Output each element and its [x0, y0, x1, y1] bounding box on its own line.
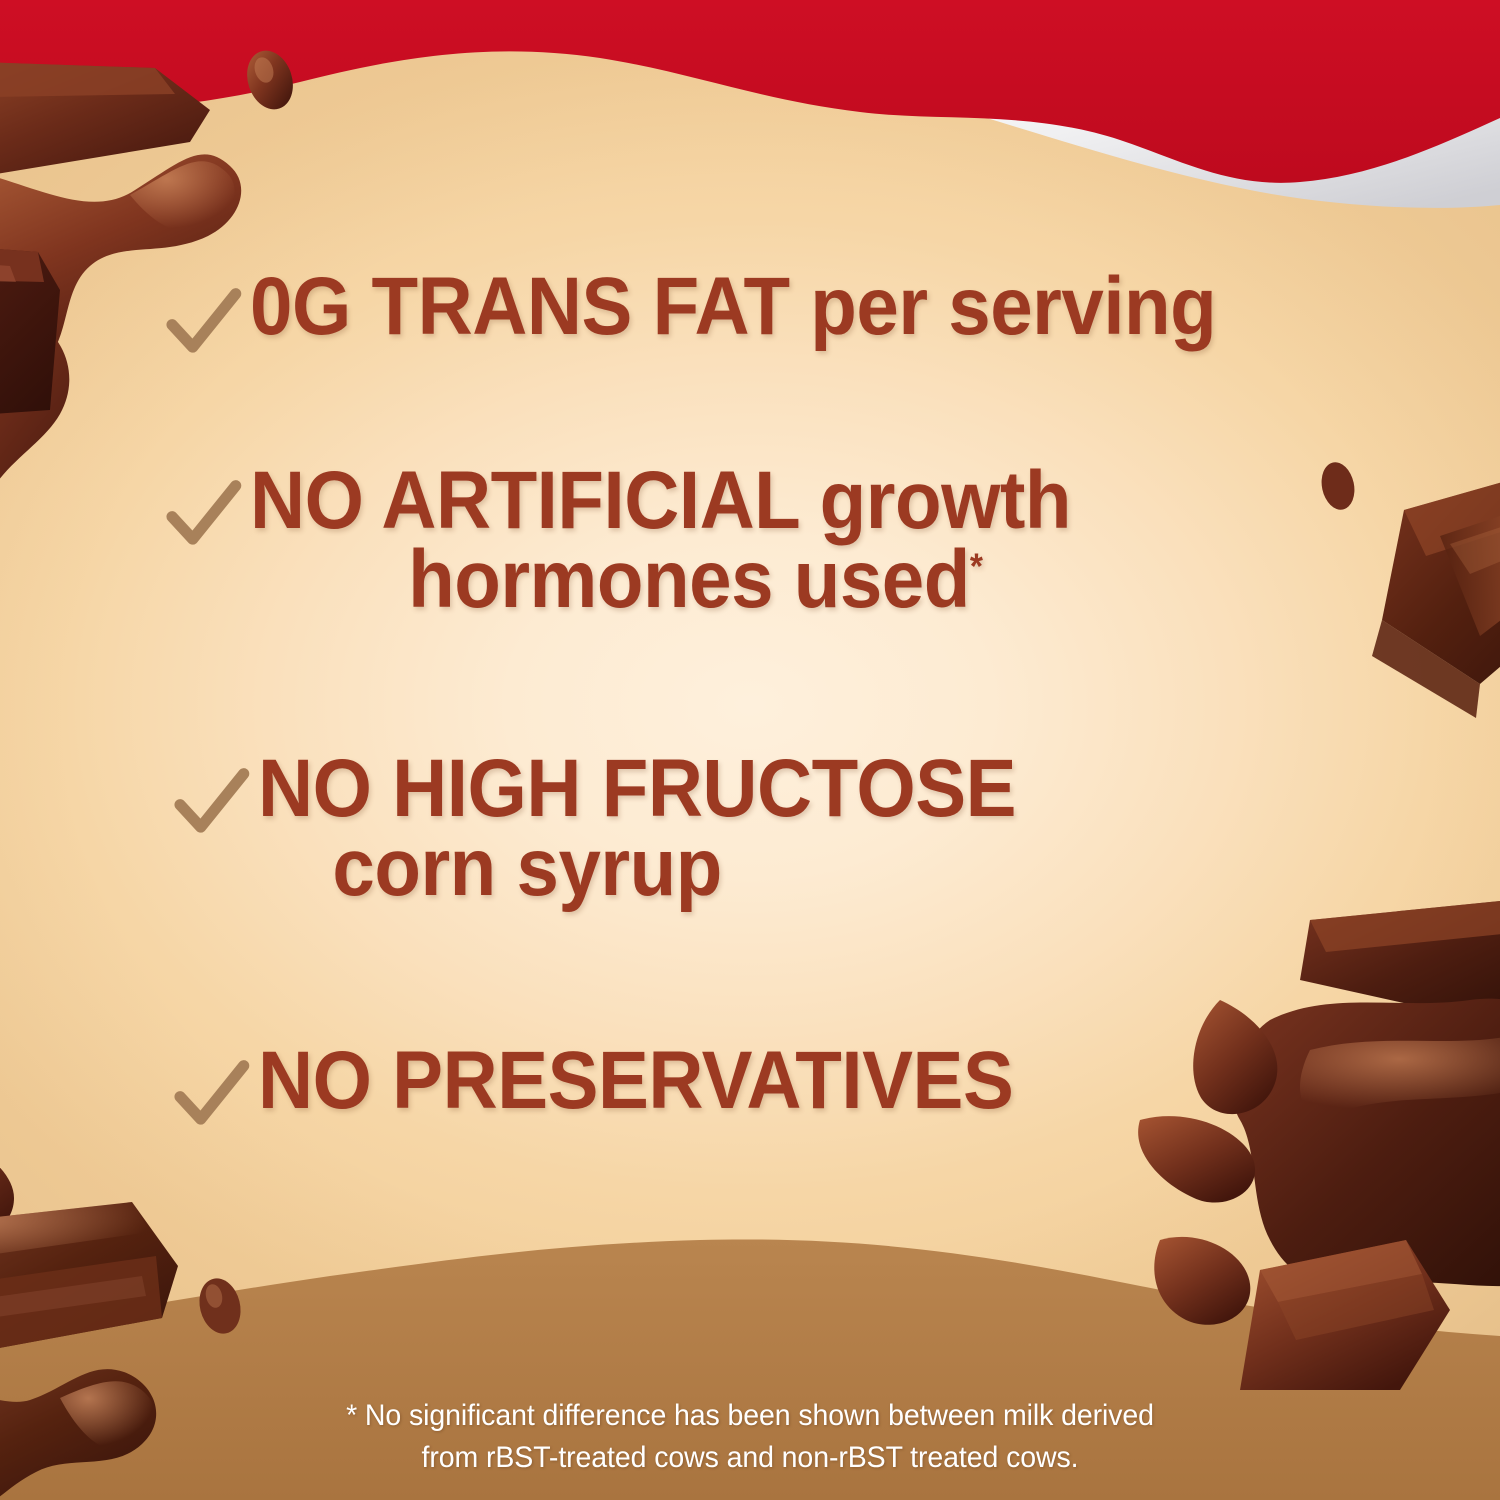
- claim-no-preservatives: NO PRESERVATIVES: [168, 1042, 1070, 1138]
- advertisement-canvas: 0G TRANS FAT per serving NO ARTIFICIAL g…: [0, 0, 1500, 1500]
- claim-text: NO ARTIFICIAL growth hormones used*: [250, 462, 1413, 619]
- claim-caps: NO PRESERVATIVES: [258, 1035, 1013, 1126]
- checkmark-icon: [160, 268, 250, 366]
- claim-growth-hormones: NO ARTIFICIAL growth hormones used*: [160, 462, 1500, 619]
- checkmark-icon: [160, 462, 250, 558]
- claim-text: NO HIGH FRUCTOSE corn syrup: [258, 750, 1413, 907]
- claim-line2: hormones used: [408, 534, 970, 625]
- footnote-line-1: * No significant difference has been sho…: [38, 1395, 1463, 1436]
- claim-rest: per serving: [790, 261, 1217, 352]
- footnote-disclaimer: * No significant difference has been sho…: [0, 1395, 1500, 1478]
- checkmark-icon: [168, 1042, 258, 1138]
- claim-text: 0G TRANS FAT per serving: [250, 268, 1216, 347]
- checkmark-icon: [168, 750, 258, 846]
- claim-trans-fat: 0G TRANS FAT per serving: [160, 268, 1289, 366]
- claim-text: NO PRESERVATIVES: [258, 1042, 1013, 1121]
- footnote-line-2: from rBST-treated cows and non-rBST trea…: [38, 1437, 1463, 1478]
- claim-caps: NO HIGH FRUCTOSE: [258, 743, 1016, 834]
- claim-line2: corn syrup: [332, 822, 721, 913]
- claim-high-fructose-corn-syrup: NO HIGH FRUCTOSE corn syrup: [168, 750, 1500, 907]
- claim-rest: growth: [799, 455, 1071, 546]
- claim-caps: 0G TRANS FAT: [250, 261, 790, 352]
- claim-caps: NO ARTIFICIAL: [250, 455, 799, 546]
- claims-list: 0G TRANS FAT per serving NO ARTIFICIAL g…: [0, 0, 1500, 1500]
- footnote-marker: *: [970, 545, 983, 586]
